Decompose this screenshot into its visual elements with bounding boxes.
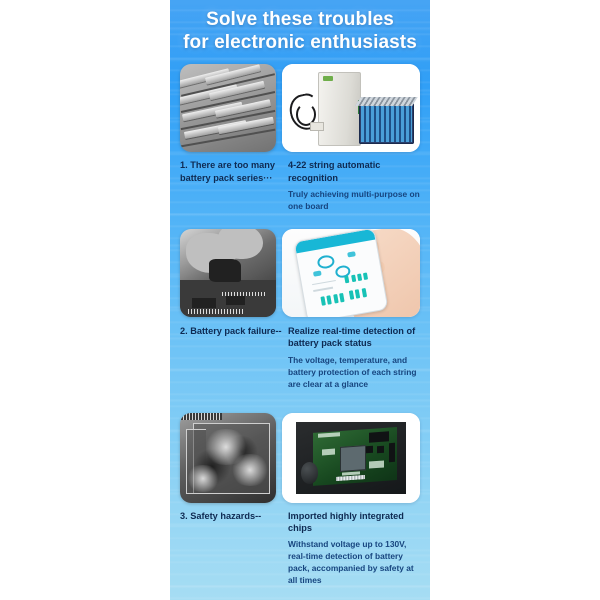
block-2-text-row: 2. Battery pack failure-- Realize real-t…	[170, 317, 430, 391]
block-1-solution-heading: 4-22 string automatic recognition	[288, 159, 420, 184]
problem-block-3: 3. Safety hazards-- Imported highly inte…	[170, 413, 430, 588]
block-3-solution-heading: Imported highly integrated chips	[288, 510, 420, 535]
block-3-media	[180, 413, 420, 503]
block-1-solution: 4-22 string automatic recognition Truly …	[288, 159, 420, 213]
block-2-solution-image-card	[282, 229, 420, 317]
page-title: Solve these troubles for electronic enth…	[170, 0, 430, 64]
green-pcb-chip-photo	[282, 413, 420, 503]
burning-cabinet-smoke-photo	[180, 413, 276, 503]
block-3-problem-text: 3. Safety hazards--	[180, 510, 282, 522]
hand-holding-smartphone-app-photo	[282, 229, 420, 317]
block-1-solution-body: Truly achieving multi-purpose on one boa…	[288, 189, 420, 213]
bms-enclosure-and-battery-pack-photo	[282, 64, 420, 152]
screenshot-canvas: Solve these troubles for electronic enth…	[0, 0, 600, 600]
block-1-solution-image-card	[282, 64, 420, 152]
infographic-panel: Solve these troubles for electronic enth…	[170, 0, 430, 600]
technician-repairing-circuit-board-photo	[180, 229, 276, 317]
block-3-problem: 3. Safety hazards--	[180, 510, 288, 588]
block-3-solution-body: Withstand voltage up to 130V, real-time …	[288, 539, 420, 587]
battery-rack-photo	[180, 64, 276, 152]
title-line-2: for electronic enthusiasts	[180, 31, 420, 54]
block-2-problem: 2. Battery pack failure--	[180, 325, 288, 391]
block-1-problem-text: 1. There are too many battery pack serie…	[180, 159, 282, 184]
block-3-solution: Imported highly integrated chips Withsta…	[288, 510, 420, 588]
block-2-solution: Realize real-time detection of battery p…	[288, 325, 420, 391]
title-line-1: Solve these troubles	[206, 9, 394, 30]
problem-block-2: 2. Battery pack failure-- Realize real-t…	[170, 229, 430, 391]
block-1-text-row: 1. There are too many battery pack serie…	[170, 152, 430, 213]
block-3-solution-image-card	[282, 413, 420, 503]
block-2-problem-text: 2. Battery pack failure--	[180, 325, 282, 337]
block-2-solution-body: The voltage, temperature, and battery pr…	[288, 355, 420, 391]
problem-block-1: 1. There are too many battery pack serie…	[170, 64, 430, 213]
block-3-text-row: 3. Safety hazards-- Imported highly inte…	[170, 503, 430, 588]
block-2-solution-heading: Realize real-time detection of battery p…	[288, 325, 420, 350]
block-1-media	[180, 64, 420, 152]
block-1-problem: 1. There are too many battery pack serie…	[180, 159, 288, 213]
block-2-media	[180, 229, 420, 317]
